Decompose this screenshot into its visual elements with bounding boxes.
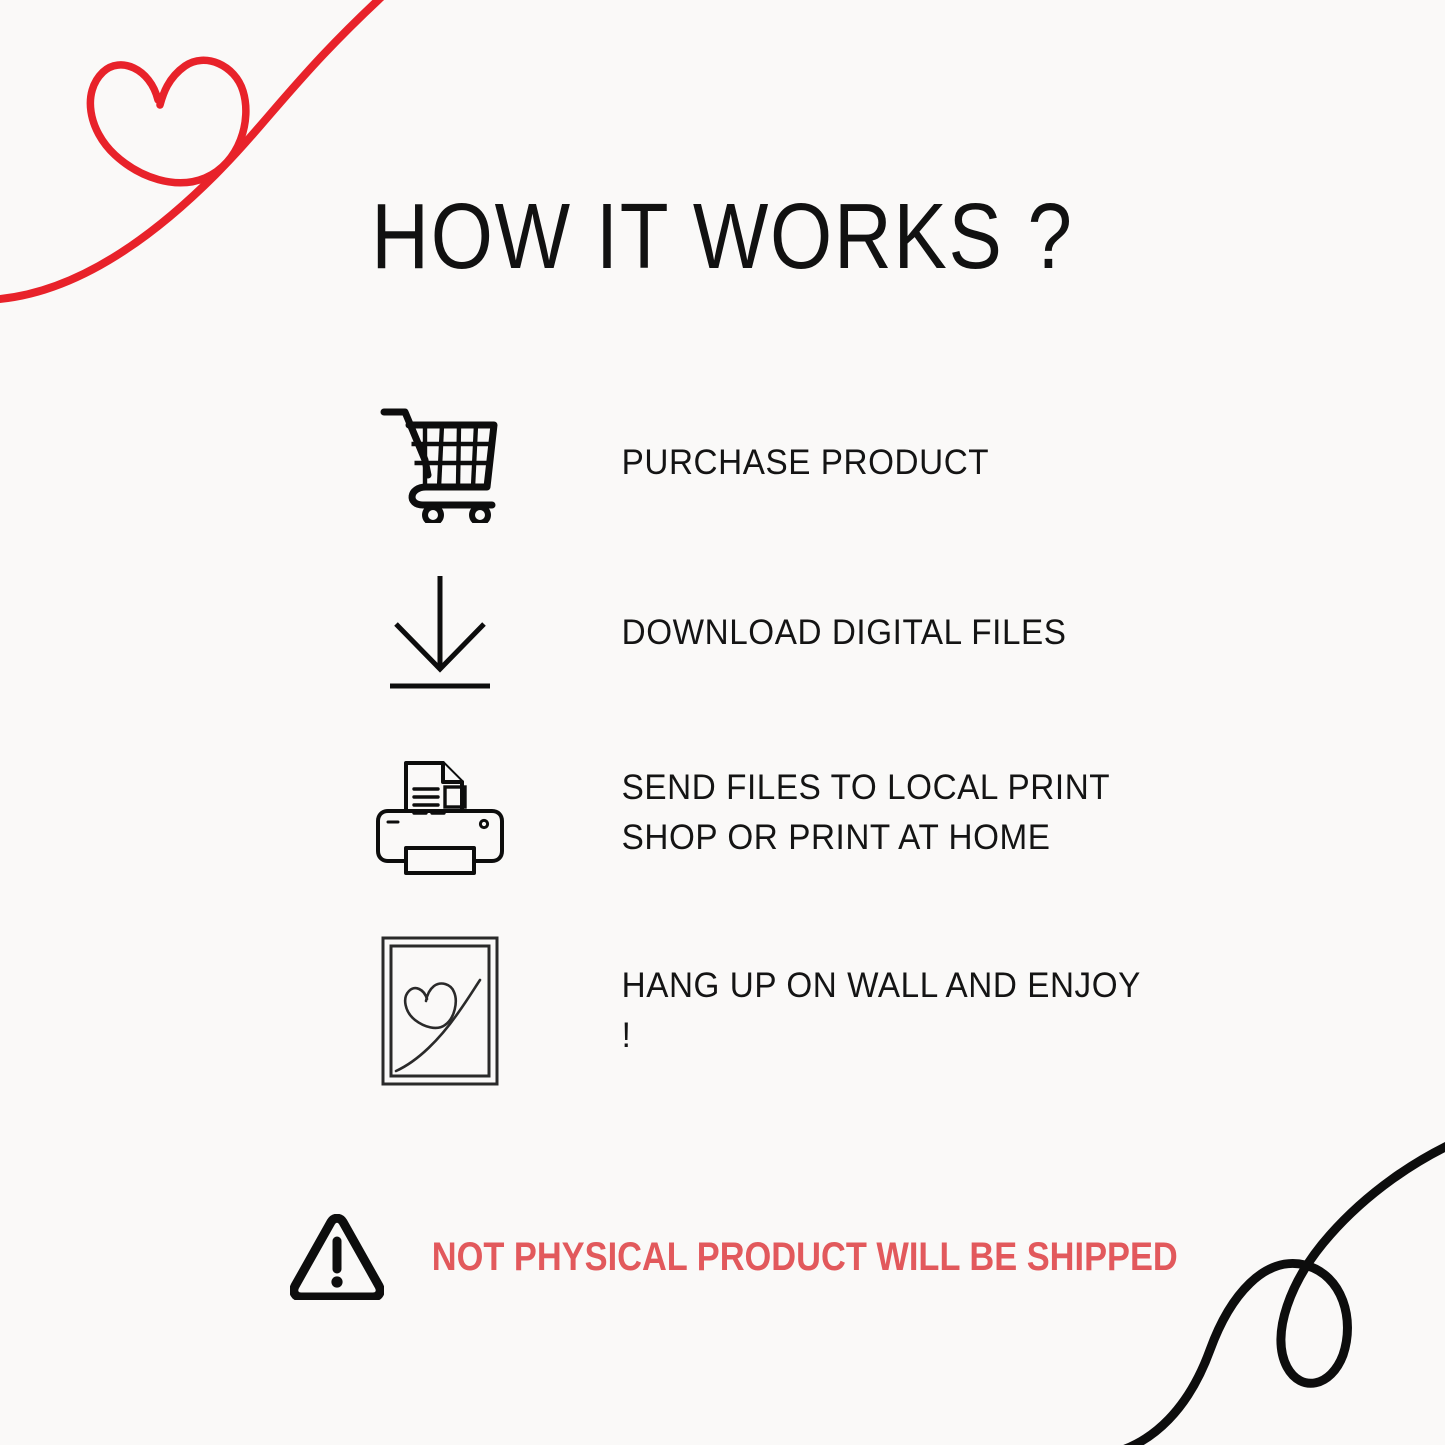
step-label: DOWNLOAD DIGITAL FILES — [520, 608, 1067, 658]
step-item-hang: HANG UP ON WALL AND ENJOY ! — [360, 908, 1190, 1113]
step-item-purchase: PURCHASE PRODUCT — [360, 378, 1190, 548]
steps-list: PURCHASE PRODUCT DOWNLOAD DIGITAL FILES — [360, 378, 1190, 1113]
footer-notice: NOT PHYSICAL PRODUCT WILL BE SHIPPED — [287, 1214, 1306, 1300]
how-it-works-graphic: HOW IT WORKS ? — [0, 0, 1445, 1445]
shopping-cart-icon — [360, 403, 520, 523]
step-label: SEND FILES TO LOCAL PRINT SHOP OR PRINT … — [520, 763, 1110, 862]
printer-icon — [360, 749, 520, 877]
step-item-print: SEND FILES TO LOCAL PRINT SHOP OR PRINT … — [360, 718, 1190, 908]
page-title: HOW IT WORKS ? — [101, 183, 1344, 290]
step-label: HANG UP ON WALL AND ENJOY ! — [520, 961, 1157, 1060]
step-label: PURCHASE PRODUCT — [520, 438, 989, 488]
warning-triangle-icon — [287, 1214, 387, 1300]
step-item-download: DOWNLOAD DIGITAL FILES — [360, 548, 1190, 718]
download-arrow-icon — [360, 572, 520, 694]
footer-notice-text: NOT PHYSICAL PRODUCT WILL BE SHIPPED — [387, 1235, 1178, 1280]
picture-frame-heart-icon — [360, 935, 520, 1087]
